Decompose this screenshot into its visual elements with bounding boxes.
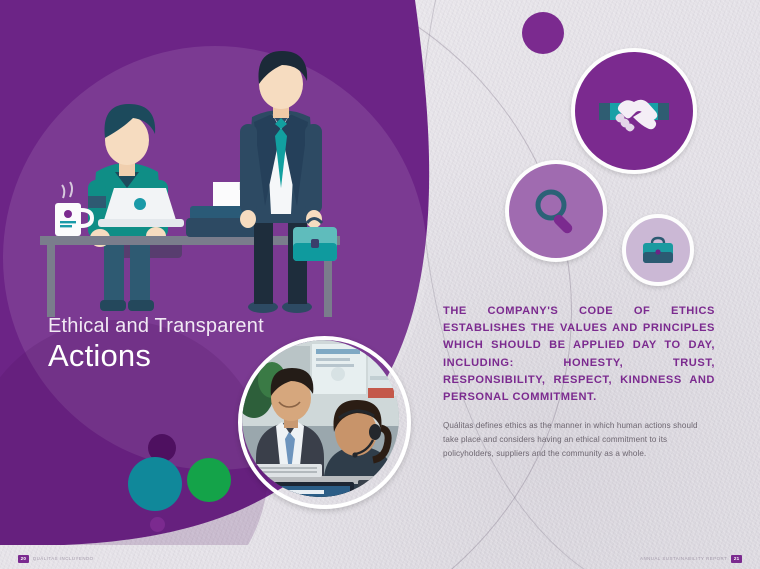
footer-left: 20 Quálitas Incluyendo [18, 555, 94, 563]
lead-paragraph: The company's code of ethics establishes… [443, 303, 715, 406]
footer-right: Annual Sustainability Report 21 [640, 555, 742, 563]
decorative-dot-teal [128, 457, 182, 511]
briefcase-icon-badge [622, 214, 694, 286]
footer-right-label: Annual Sustainability Report [640, 557, 727, 561]
body-paragraph: Quálitas defines ethics as the manner in… [443, 419, 715, 461]
coffee-mug [55, 182, 92, 236]
office-photo [238, 336, 411, 509]
footer-left-label: Quálitas Incluyendo [33, 557, 94, 561]
decorative-dot-purple-top [522, 12, 564, 54]
copy-block: The company's code of ethics establishes… [443, 303, 715, 461]
handshake-icon-badge [571, 48, 697, 174]
standing-businessman [240, 51, 337, 313]
briefcase-icon [640, 234, 676, 266]
page-title-line1: Ethical and Transparent [48, 315, 348, 338]
flat-illustration [0, 0, 420, 340]
decorative-dot-green [187, 458, 231, 502]
report-page: Ethical and Transparent Actions [0, 0, 760, 569]
page-footer: 20 Quálitas Incluyendo Annual Sustainabi… [0, 547, 760, 563]
magnifier-icon-badge [505, 160, 607, 262]
magnifier-icon [530, 185, 582, 237]
seated-worker [88, 104, 184, 311]
footer-left-page-number: 20 [18, 555, 29, 563]
footer-right-page-number: 21 [731, 555, 742, 563]
decorative-dot-small-purple [150, 517, 165, 532]
handshake-icon [597, 85, 671, 137]
